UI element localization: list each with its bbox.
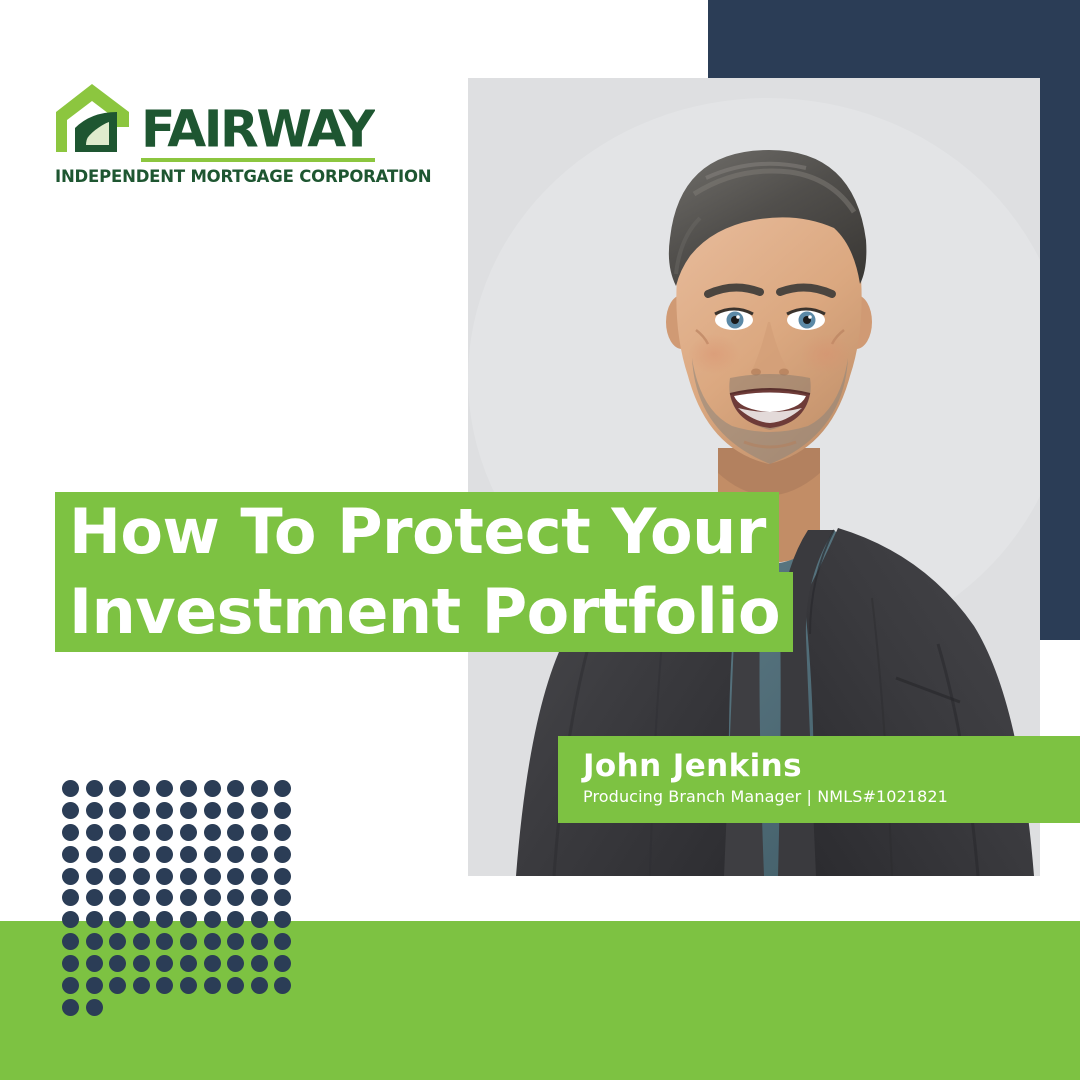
grid-dot <box>62 824 79 841</box>
grid-dot <box>274 802 291 819</box>
headline-line-2: Investment Portfolio <box>55 572 793 652</box>
grid-dot <box>86 846 103 863</box>
grid-dot <box>180 868 197 885</box>
grid-dot <box>274 846 291 863</box>
grid-dot <box>86 780 103 797</box>
grid-dot <box>133 780 150 797</box>
grid-dot <box>86 868 103 885</box>
grid-dot <box>156 889 173 906</box>
grid-dot <box>251 868 268 885</box>
grid-dot <box>204 780 221 797</box>
grid-dot <box>109 780 126 797</box>
grid-dot <box>274 824 291 841</box>
grid-dot <box>251 802 268 819</box>
grid-dot <box>133 955 150 972</box>
grid-dot <box>109 977 126 994</box>
fairway-logo: FAIRWAY INDEPENDENT MORTGAGE CORPORATION <box>55 82 375 186</box>
grid-dot <box>156 780 173 797</box>
grid-dot <box>156 802 173 819</box>
grid-dot <box>227 824 244 841</box>
social-graphic-canvas: How To Protect Your Investment Portfolio… <box>0 0 1080 1080</box>
grid-dot <box>86 889 103 906</box>
grid-dot <box>86 802 103 819</box>
grid-dot <box>227 802 244 819</box>
grid-dot <box>180 977 197 994</box>
grid-dot <box>62 999 79 1016</box>
grid-dot <box>62 933 79 950</box>
grid-dot <box>204 802 221 819</box>
grid-dot <box>62 780 79 797</box>
grid-dot <box>109 889 126 906</box>
grid-dot <box>133 802 150 819</box>
grid-dot <box>109 846 126 863</box>
grid-dot <box>180 955 197 972</box>
grid-dot <box>109 802 126 819</box>
grid-dot <box>227 977 244 994</box>
grid-dot <box>227 846 244 863</box>
grid-dot <box>227 933 244 950</box>
grid-dot <box>133 846 150 863</box>
grid-dot <box>133 933 150 950</box>
house-roof-icon <box>55 82 133 156</box>
grid-dot <box>180 824 197 841</box>
grid-dot <box>227 889 244 906</box>
headline-block: How To Protect Your Investment Portfolio <box>55 492 845 652</box>
grid-dot <box>180 889 197 906</box>
grid-dot <box>109 955 126 972</box>
grid-dot <box>133 824 150 841</box>
grid-dot <box>274 868 291 885</box>
presenter-name-card: John Jenkins Producing Branch Manager | … <box>558 736 1080 823</box>
grid-dot <box>180 846 197 863</box>
grid-dot <box>62 911 79 928</box>
grid-dot <box>227 955 244 972</box>
grid-dot <box>133 977 150 994</box>
grid-dot <box>62 802 79 819</box>
grid-dot <box>274 911 291 928</box>
logo-name-text: FAIRWAY <box>141 104 375 156</box>
grid-dot <box>156 911 173 928</box>
grid-dot <box>180 933 197 950</box>
presenter-name: John Jenkins <box>583 747 1080 785</box>
grid-dot <box>156 868 173 885</box>
presenter-title: Producing Branch Manager | NMLS#1021821 <box>583 785 1080 809</box>
grid-dot <box>109 868 126 885</box>
fairway-wordmark-text: FAIRWAY <box>141 104 375 156</box>
grid-dot <box>180 780 197 797</box>
grid-dot <box>251 780 268 797</box>
grid-dot <box>156 933 173 950</box>
grid-dot <box>86 911 103 928</box>
grid-dot <box>204 824 221 841</box>
logo-divider-rule <box>141 158 375 162</box>
grid-dot <box>227 868 244 885</box>
headline-line-1: How To Protect Your <box>55 492 779 572</box>
grid-dot <box>62 868 79 885</box>
grid-dot <box>204 911 221 928</box>
grid-dot <box>62 955 79 972</box>
logo-wordmark: FAIRWAY <box>141 104 375 156</box>
grid-dot <box>204 955 221 972</box>
grid-dot <box>109 933 126 950</box>
grid-dot <box>180 911 197 928</box>
grid-dot <box>274 955 291 972</box>
logo-top-row: FAIRWAY <box>55 82 375 156</box>
grid-dot <box>227 780 244 797</box>
grid-dot <box>274 889 291 906</box>
grid-dot <box>274 977 291 994</box>
grid-dot <box>156 846 173 863</box>
grid-dot <box>274 780 291 797</box>
grid-dot <box>156 824 173 841</box>
grid-dot <box>62 846 79 863</box>
grid-dot <box>86 977 103 994</box>
grid-dot <box>251 955 268 972</box>
grid-dot <box>133 911 150 928</box>
grid-dot <box>109 911 126 928</box>
grid-dot <box>204 933 221 950</box>
grid-dot <box>274 933 291 950</box>
grid-dot <box>180 802 197 819</box>
grid-dot <box>62 977 79 994</box>
grid-dot <box>204 846 221 863</box>
grid-dot <box>86 955 103 972</box>
grid-dot <box>251 977 268 994</box>
grid-dot <box>251 846 268 863</box>
grid-dot <box>156 977 173 994</box>
grid-dot <box>156 955 173 972</box>
grid-dot <box>204 868 221 885</box>
grid-dot <box>251 824 268 841</box>
grid-dot <box>251 911 268 928</box>
grid-dot <box>204 889 221 906</box>
grid-dot <box>227 911 244 928</box>
grid-dot <box>86 933 103 950</box>
grid-dot <box>109 824 126 841</box>
dot-grid-decoration <box>62 780 298 1016</box>
grid-dot <box>133 868 150 885</box>
grid-dot <box>86 999 103 1016</box>
logo-tagline: INDEPENDENT MORTGAGE CORPORATION <box>55 167 375 186</box>
grid-dot <box>204 977 221 994</box>
grid-dot <box>86 824 103 841</box>
grid-dot <box>62 889 79 906</box>
grid-dot <box>133 889 150 906</box>
grid-dot <box>251 933 268 950</box>
grid-dot <box>251 889 268 906</box>
